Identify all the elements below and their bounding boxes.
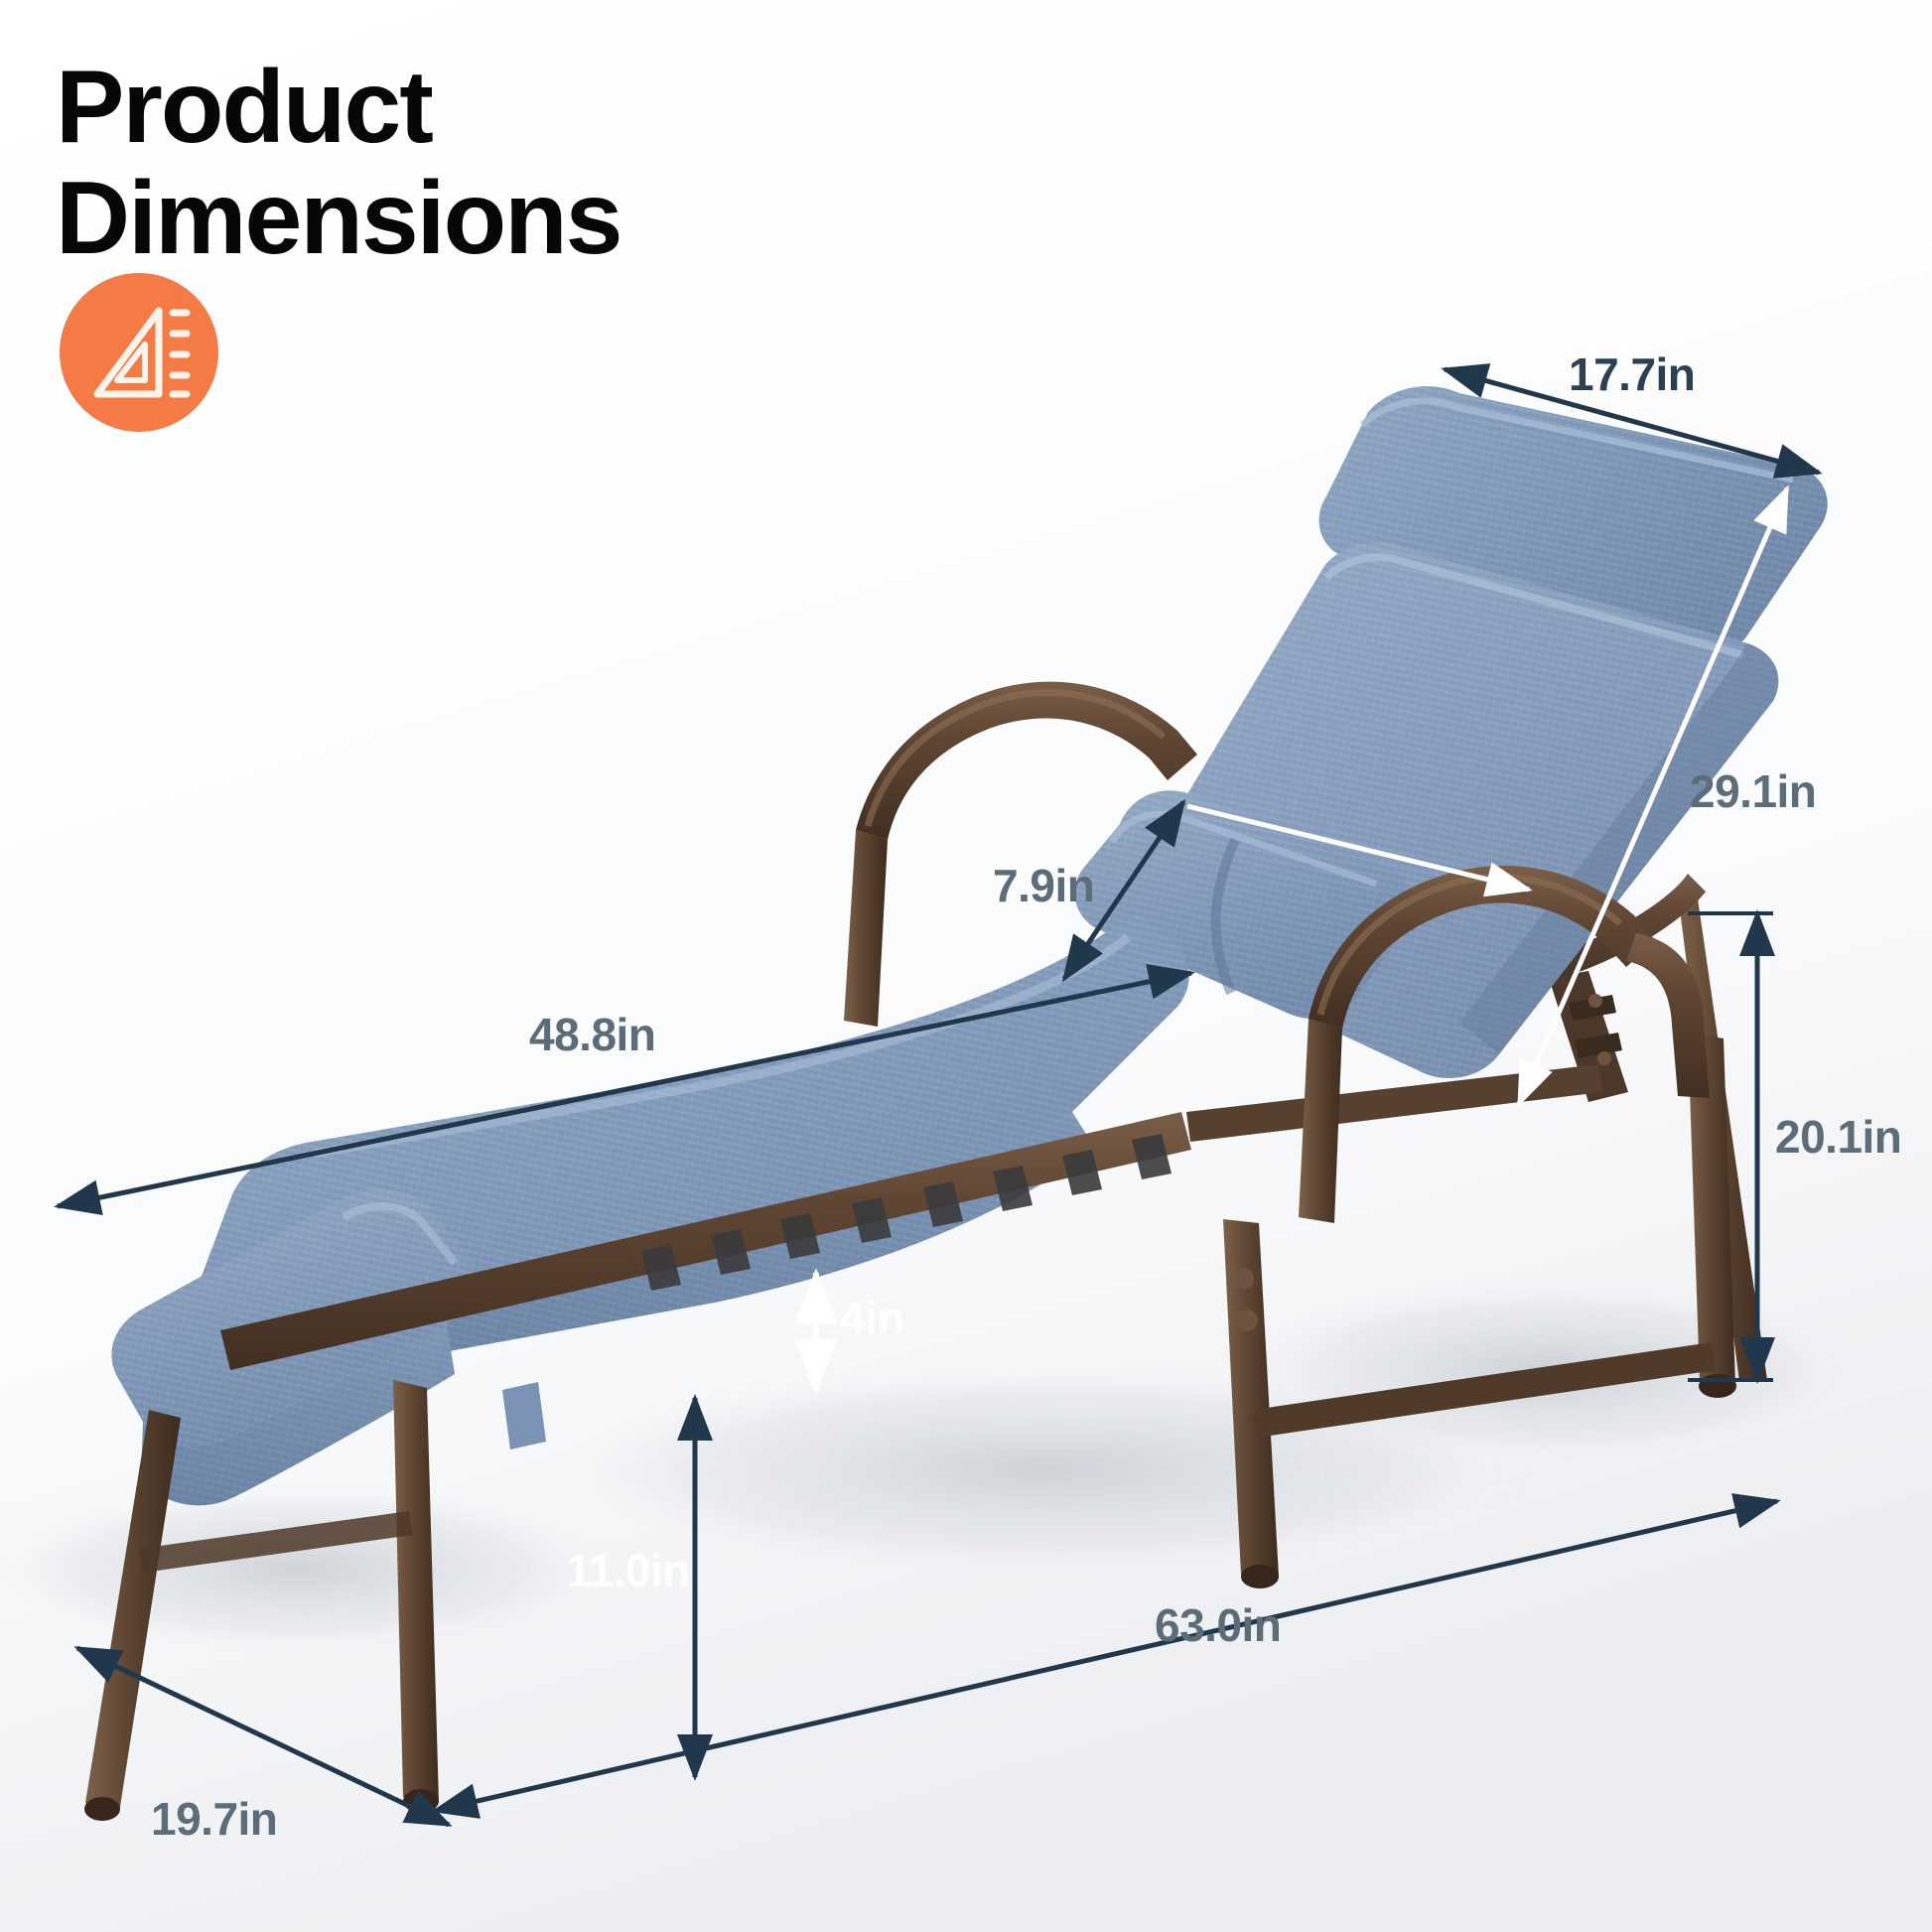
- dimension-label-11.0in: 11.0in: [566, 1544, 690, 1597]
- dimension-label-17.7in: 17.7in: [1569, 347, 1695, 401]
- dimension-label-63.0in: 63.0in: [1155, 1598, 1281, 1652]
- dimension-label-48.8in: 48.8in: [529, 1008, 655, 1061]
- dimension-label-19.7in: 19.7in: [151, 1792, 277, 1846]
- product-dimensions-infographic: Product Dimensions 17.7in 29.1in 7.9in 4…: [0, 0, 1932, 1932]
- triangle-ruler-icon: [60, 273, 218, 432]
- dimensions-badge: [60, 273, 218, 432]
- page-title: Product Dimensions: [56, 52, 621, 275]
- dimension-label-29.1in: 29.1in: [1690, 764, 1816, 818]
- dimension-label-20.1in: 20.1in: [1775, 1110, 1901, 1164]
- dimension-label-7.9in: 7.9in: [993, 859, 1094, 912]
- dimension-label-4in: 4in: [840, 1291, 904, 1344]
- chaise-lounge-illustration: [0, 0, 1932, 1932]
